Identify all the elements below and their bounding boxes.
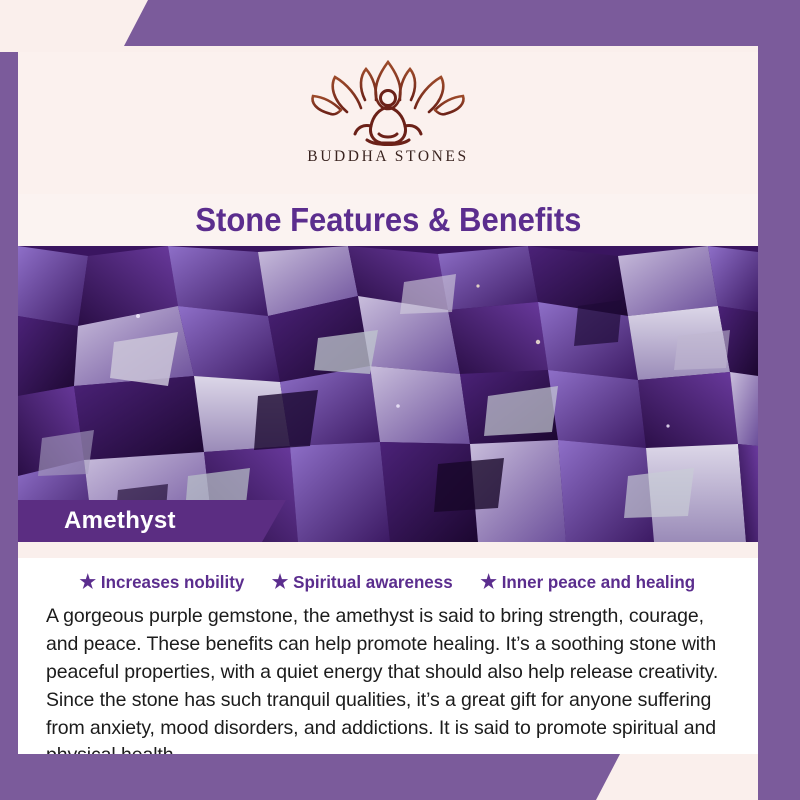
title-band: Stone Features & Benefits [18,194,758,246]
feature-item: ★ Spiritual awareness [272,572,453,593]
feature-label: Spiritual awareness [293,572,452,593]
amethyst-crystal-cluster-photo [18,246,758,542]
features-row: ★ Increases nobility ★ Spiritual awarene… [30,572,746,593]
star-icon: ★ [481,573,498,592]
photo-divider-strip [18,542,758,558]
feature-item: ★ Increases nobility [80,572,245,593]
feature-label: Increases nobility [101,572,244,593]
brand-logo: BUDDHA STONES [18,52,758,194]
brand-name: BUDDHA STONES [307,148,468,166]
stone-name-ribbon: Amethyst [18,500,286,542]
stone-name: Amethyst [64,500,176,542]
infographic-card: BUDDHA STONES Stone Features & Benefits [18,52,758,754]
page-title: Stone Features & Benefits [195,201,581,239]
lotus-meditation-figure-icon [303,56,473,152]
feature-item: ★ Inner peace and healing [481,572,696,593]
star-icon: ★ [80,573,97,592]
feature-label: Inner peace and healing [502,572,695,593]
content-area: ★ Increases nobility ★ Spiritual awarene… [18,558,758,754]
star-icon: ★ [272,573,289,592]
stone-description: A gorgeous purple gemstone, the amethyst… [30,603,746,754]
